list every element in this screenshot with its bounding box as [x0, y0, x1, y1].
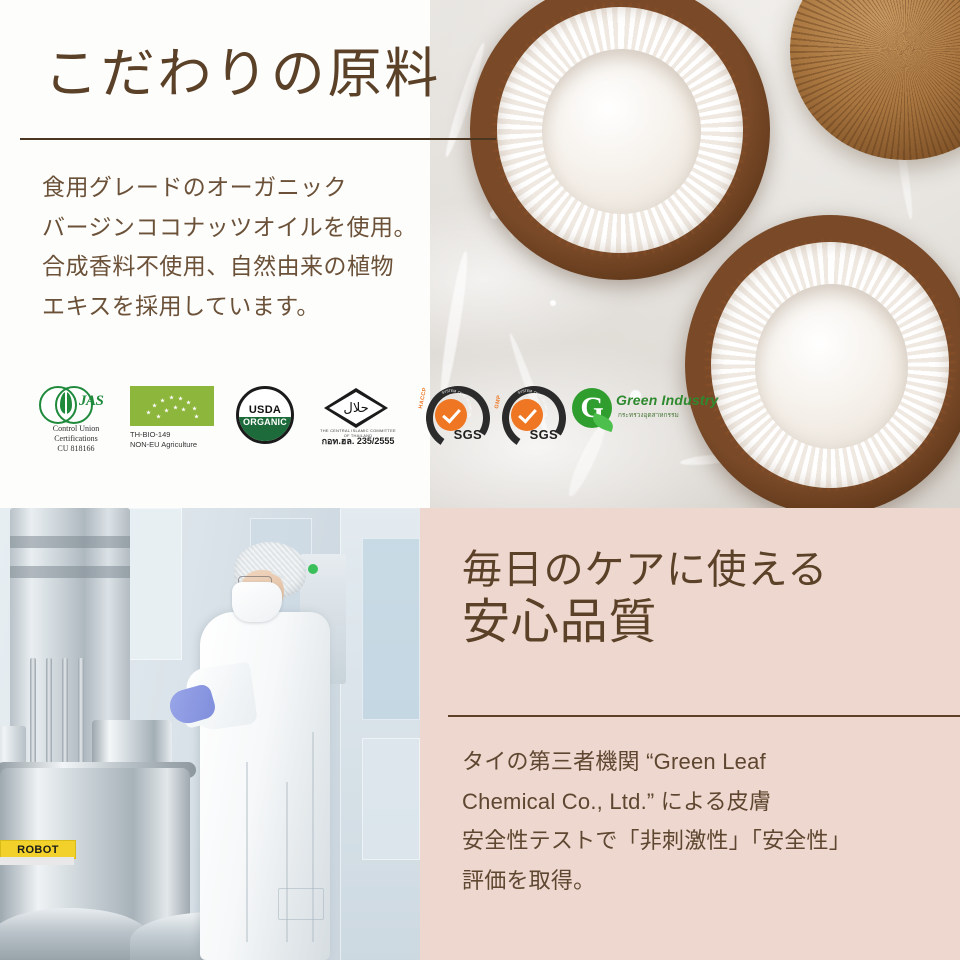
body-line: Chemical Co., Ltd.” による皮膚 — [462, 782, 948, 822]
halal-icon: حلال THE CENTRAL ISLAMIC COMMITTEE OF TH… — [310, 386, 406, 432]
quality-heading: 毎日のケアに使える 安心品質 — [462, 546, 828, 653]
sgs-wordmark: SGS — [530, 427, 558, 442]
face-mask — [232, 582, 282, 622]
badge-jas-organic: JAS Control Union Certifications CU 8181… — [30, 386, 122, 458]
badge-sgs-haccp: HACCP SYSTEM CERTIFICATION SGS — [416, 386, 486, 458]
body-line: バージンココナッツオイルを使用。 — [42, 208, 492, 248]
caption-line: NON-EU Agriculture — [130, 440, 214, 450]
eu-caption: TH-BIO-149 NON-EU Agriculture — [130, 430, 214, 450]
door-window — [362, 738, 420, 860]
badge-sgs-gmp: GMP SYSTEM CERTIFICATION SGS — [492, 386, 562, 458]
badge-green-industry: G Green Industry กระทรวงอุตสาหกรรม — [570, 386, 710, 458]
quality-copy-panel: 毎日のケアに使える 安心品質 タイの第三者機関 “Green Leaf Chem… — [420, 508, 960, 960]
machine-clamp — [10, 536, 130, 548]
caption-line: CU 818166 — [53, 444, 99, 454]
coat-pocket — [278, 888, 324, 920]
badge-eu-organic: TH-BIO-149 NON-EU Agriculture — [128, 386, 216, 458]
quality-section: ROBOT — [0, 508, 960, 960]
caption-line: TH-BIO-149 — [130, 430, 214, 440]
ingredients-section: こだわりの原料 食用グレードのオーガニック バージンココナッツオイルを使用。 合… — [0, 0, 960, 508]
title-divider — [20, 138, 496, 140]
brand-plate-subtext — [0, 857, 74, 865]
usda-label-top: USDA — [249, 404, 281, 416]
sgs-gmp-icon: GMP SYSTEM CERTIFICATION SGS — [496, 386, 558, 440]
machine-clamp — [10, 566, 130, 578]
halal-arabic: حلال — [343, 401, 368, 416]
jas-label: JAS — [79, 393, 103, 410]
page-title: こだわりの原料 — [44, 44, 441, 104]
body-line: 食用グレードのオーガニック — [42, 168, 492, 208]
ingredients-body: 食用グレードのオーガニック バージンココナッツオイルを使用。 合成香料不使用、自… — [42, 168, 492, 326]
coconut-cavity — [755, 284, 909, 449]
caption-line: Certifications — [53, 434, 99, 444]
usda-label-bottom: ORGANIC — [243, 417, 287, 427]
quality-body: タイの第三者機関 “Green Leaf Chemical Co., Ltd.”… — [462, 742, 948, 900]
quality-heading-line1: 毎日のケアに使える — [462, 546, 828, 594]
jas-icon: JAS — [39, 386, 113, 420]
green-industry-letter: G — [572, 388, 612, 428]
factory-worker — [182, 516, 342, 960]
body-line: 安全性テストで「非刺激性」「安全性」 — [462, 821, 948, 861]
halal-committee-text: THE CENTRAL ISLAMIC COMMITTEE OF THAILAN… — [318, 428, 398, 438]
coconut-cavity — [542, 49, 701, 214]
green-industry-subtitle: กระทรวงอุตสาหกรรม — [618, 410, 679, 420]
badge-usda-organic: USDA ORGANIC — [226, 386, 304, 458]
door-window — [362, 538, 420, 720]
robot-brand-label: ROBOT — [17, 844, 59, 856]
sgs-wordmark: SGS — [454, 427, 482, 442]
product-detail-page: こだわりの原料 食用グレードのオーガニック バージンココナッツオイルを使用。 合… — [0, 0, 960, 960]
body-line: エキスを採用しています。 — [42, 287, 492, 327]
eu-leaf-icon — [130, 386, 214, 426]
water-droplet — [550, 300, 556, 306]
quality-divider — [448, 715, 960, 717]
coconut-half-upper — [470, 0, 770, 280]
certification-badge-row: JAS Control Union Certifications CU 8181… — [30, 386, 690, 458]
jas-caption: Control Union Certifications CU 818166 — [53, 424, 99, 453]
lab-coat — [200, 612, 330, 960]
sgs-haccp-icon: HACCP SYSTEM CERTIFICATION SGS — [420, 386, 482, 440]
body-line: 評価を取得。 — [462, 861, 948, 901]
factory-photo: ROBOT — [0, 508, 420, 960]
coconut-half-lower — [685, 215, 960, 508]
badge-halal: حلال THE CENTRAL ISLAMIC COMMITTEE OF TH… — [308, 386, 408, 458]
body-line: 合成香料不使用、自然由来の植物 — [42, 247, 492, 287]
green-industry-title: Green Industry — [616, 392, 718, 408]
green-industry-icon: G Green Industry กระทรวงอุตสาหกรรม — [572, 386, 708, 430]
body-line: タイの第三者機関 “Green Leaf — [462, 742, 948, 782]
usda-organic-icon: USDA ORGANIC — [236, 386, 294, 444]
worker-head — [226, 542, 300, 620]
caption-line: Control Union — [53, 424, 99, 434]
quality-heading-line2: 安心品質 — [462, 594, 828, 653]
